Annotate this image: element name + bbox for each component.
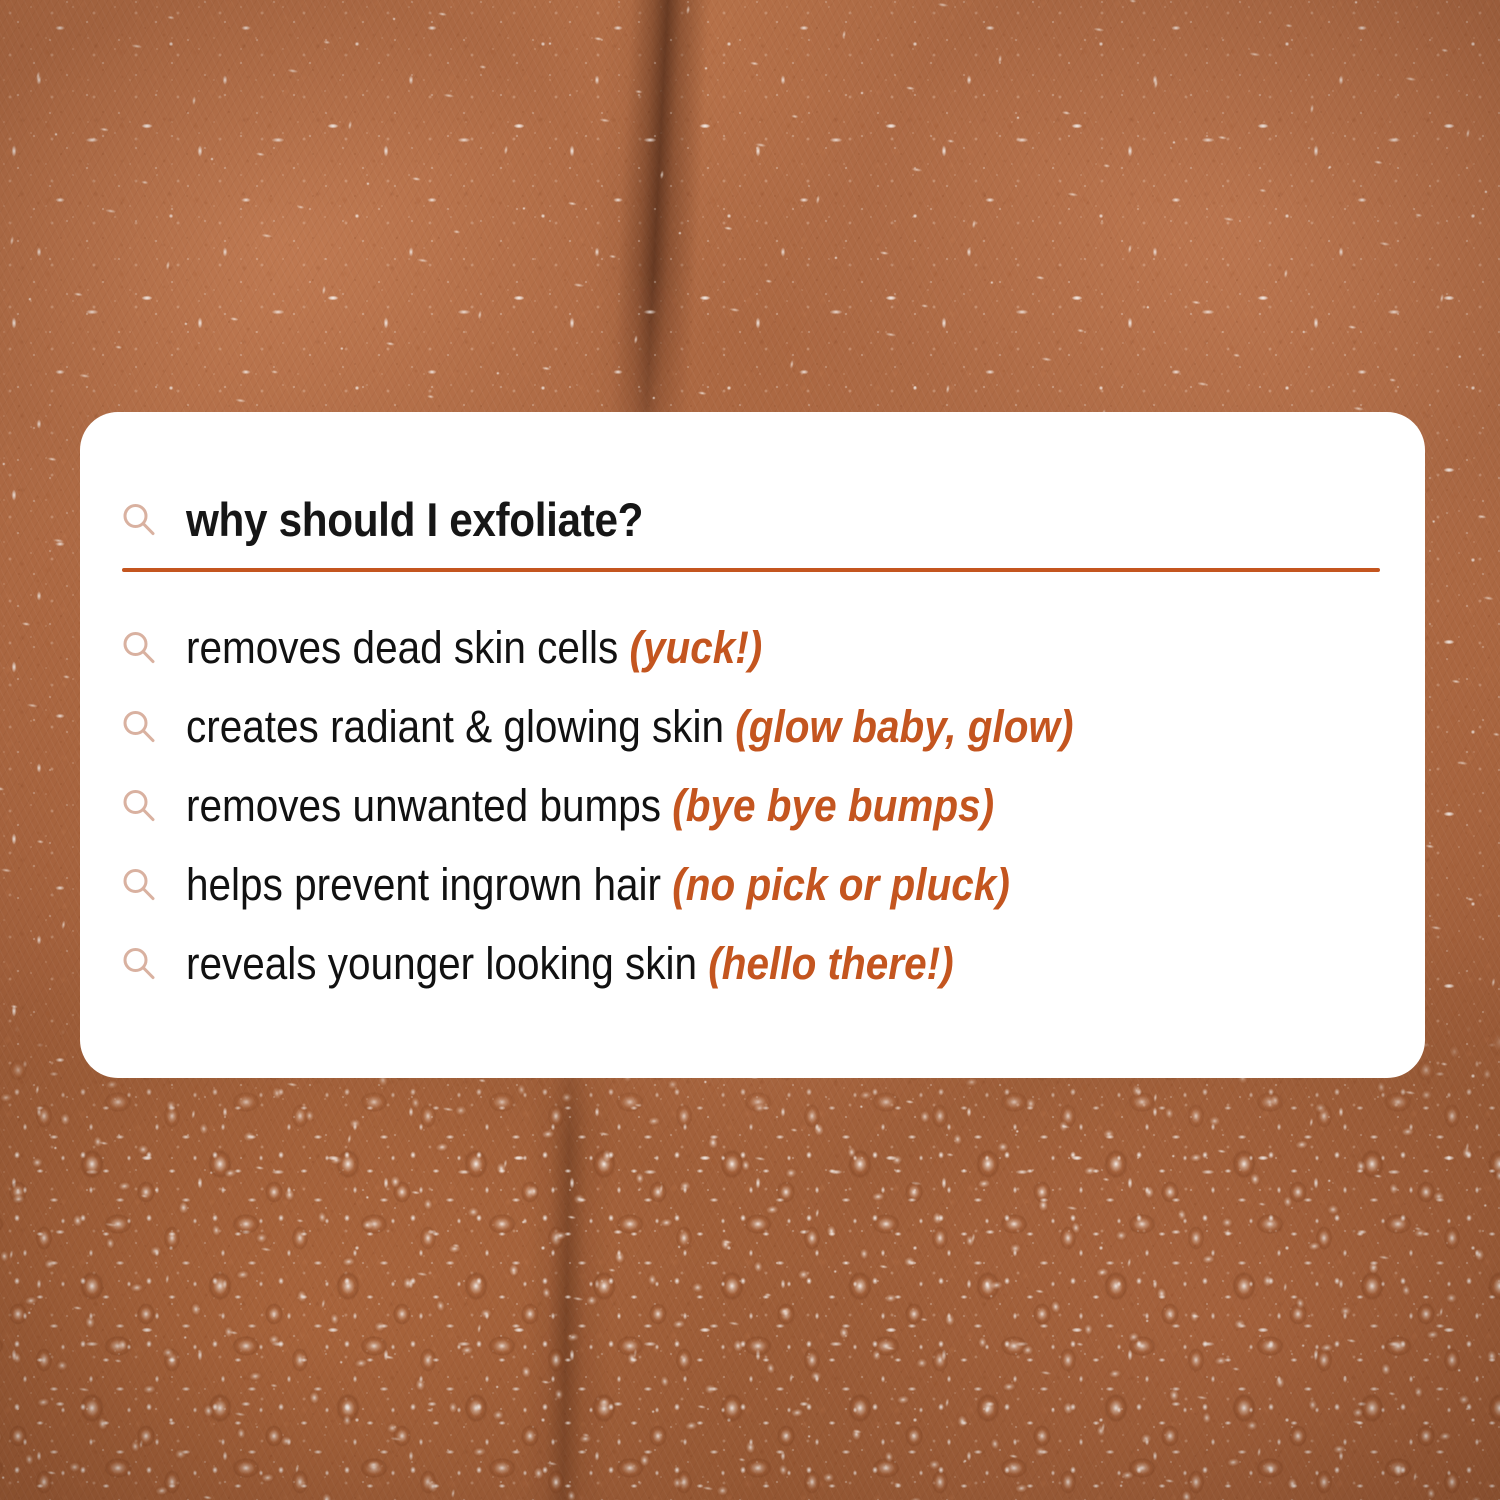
list-item-accent: (yuck!) (618, 622, 762, 673)
heading-divider (122, 568, 1380, 572)
search-icon (120, 501, 158, 539)
search-icon (120, 708, 158, 746)
list-item: reveals younger looking skin (hello ther… (120, 924, 1385, 1003)
ad-creative-canvas: why should I exfoliate? removes dead ski… (0, 0, 1500, 1500)
card-heading-row: why should I exfoliate? (120, 496, 694, 543)
search-icon (120, 787, 158, 825)
list-item-main: removes dead skin cells (186, 622, 618, 673)
list-item-accent: (glow baby, glow) (724, 701, 1073, 752)
list-item-text: creates radiant & glowing skin (glow bab… (186, 704, 1074, 749)
list-item-main: creates radiant & glowing skin (186, 701, 724, 752)
list-item: creates radiant & glowing skin (glow bab… (120, 687, 1385, 766)
list-item: helps prevent ingrown hair (no pick or p… (120, 845, 1385, 924)
info-card: why should I exfoliate? removes dead ski… (80, 412, 1425, 1078)
list-item-text: reveals younger looking skin (hello ther… (186, 941, 954, 986)
search-icon (120, 866, 158, 904)
benefits-list: removes dead skin cells (yuck!) creates … (120, 608, 1385, 1003)
card-content: why should I exfoliate? removes dead ski… (120, 412, 1385, 1078)
list-item-text: removes unwanted bumps (bye bye bumps) (186, 783, 994, 828)
list-item-main: removes unwanted bumps (186, 780, 661, 831)
list-item-main: helps prevent ingrown hair (186, 859, 661, 910)
list-item-accent: (no pick or pluck) (661, 859, 1010, 910)
list-item-main: reveals younger looking skin (186, 938, 697, 989)
list-item-text: helps prevent ingrown hair (no pick or p… (186, 862, 1010, 907)
list-item-text: removes dead skin cells (yuck!) (186, 625, 762, 670)
page-title: why should I exfoliate? (186, 496, 643, 543)
list-item: removes dead skin cells (yuck!) (120, 608, 1385, 687)
search-icon (120, 629, 158, 667)
list-item-accent: (bye bye bumps) (661, 780, 994, 831)
list-item-accent: (hello there!) (697, 938, 954, 989)
list-item: removes unwanted bumps (bye bye bumps) (120, 766, 1385, 845)
search-icon (120, 945, 158, 983)
